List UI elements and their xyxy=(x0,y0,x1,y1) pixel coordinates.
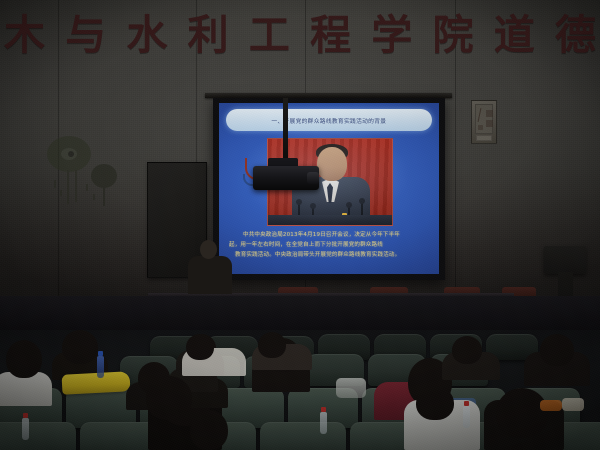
banner-char: 学 xyxy=(371,15,412,56)
person-head xyxy=(190,410,228,450)
slide-title-text: 一、开展党的群众路线教育实践活动的背景 xyxy=(272,116,387,125)
water-bottle xyxy=(320,412,327,434)
person-head xyxy=(452,336,482,364)
white-bag xyxy=(336,378,366,398)
poster-mark xyxy=(478,108,482,122)
person-head xyxy=(62,330,98,364)
projector-ceiling-mount xyxy=(283,98,288,158)
cream-snack xyxy=(562,398,584,411)
person-head xyxy=(186,334,214,360)
person-head xyxy=(496,388,548,438)
framed-wall-poster xyxy=(471,100,497,144)
orange-snack xyxy=(540,400,562,411)
banner-char: 工 xyxy=(249,15,290,56)
person-head xyxy=(258,332,286,358)
yellow-jacket xyxy=(62,371,131,395)
banner-char: 利 xyxy=(188,15,229,56)
banner-char: 道 xyxy=(494,15,535,56)
poster-mark xyxy=(478,125,483,130)
speaker-head xyxy=(317,147,347,181)
presentation-slide: 一、开展党的群众路线教育实践活动的背景 中共中央政治局2013年4月19日召开会… xyxy=(219,103,439,274)
poster-mark xyxy=(486,120,493,127)
seat xyxy=(0,422,76,450)
presenter-silhouette xyxy=(186,240,234,294)
poster-inner xyxy=(475,104,493,134)
wall-speaker-icon xyxy=(544,246,586,274)
tree-wall-decal xyxy=(38,132,124,210)
banner-char: 与 xyxy=(65,15,106,56)
banner-char: 水 xyxy=(126,15,167,56)
slide-body-line: 中共中央政治局2013年4月19日召开会议，决定从今年下半年 xyxy=(229,231,429,239)
person-head xyxy=(540,334,574,366)
slide-title-pill: 一、开展党的群众路线教育实践活动的背景 xyxy=(226,109,432,131)
seat xyxy=(260,422,346,450)
poster-caption-bar xyxy=(476,135,492,141)
presenter-head xyxy=(200,240,217,259)
slide-body-text: 中共中央政治局2013年4月19日召开会议，决定从今年下半年 起，用一年左右时间… xyxy=(229,231,429,259)
banner-char: 德 xyxy=(555,15,596,56)
presenter-body xyxy=(188,256,232,294)
banner-char: 院 xyxy=(433,15,474,56)
photograph-scene: 木 与 水 利 工 程 学 院 道 德 xyxy=(0,0,600,450)
water-bottle xyxy=(22,418,29,440)
slide-body-line: 教育实践活动。中央政治局带头开展党的群众路线教育实践活动。 xyxy=(229,251,429,259)
poster-mark xyxy=(486,110,493,117)
person-head xyxy=(6,340,42,378)
water-bottle xyxy=(463,406,470,428)
wall-banner-text: 木 与 水 利 工 程 学 院 道 德 xyxy=(0,8,600,62)
banner-char: 木 xyxy=(4,15,45,56)
banner-char: 程 xyxy=(310,15,351,56)
projector-lens-icon xyxy=(307,172,319,184)
person-head xyxy=(146,376,192,420)
blue-bottle xyxy=(97,356,104,378)
projection-screen: 一、开展党的群众路线教育实践活动的背景 中共中央政治局2013年4月19日召开会… xyxy=(213,98,445,280)
podium xyxy=(268,215,392,225)
slide-body-line: 起，用一年左右时间，在全党自上而下分批开展党的群众路线 xyxy=(229,241,429,249)
person-head xyxy=(416,386,454,420)
